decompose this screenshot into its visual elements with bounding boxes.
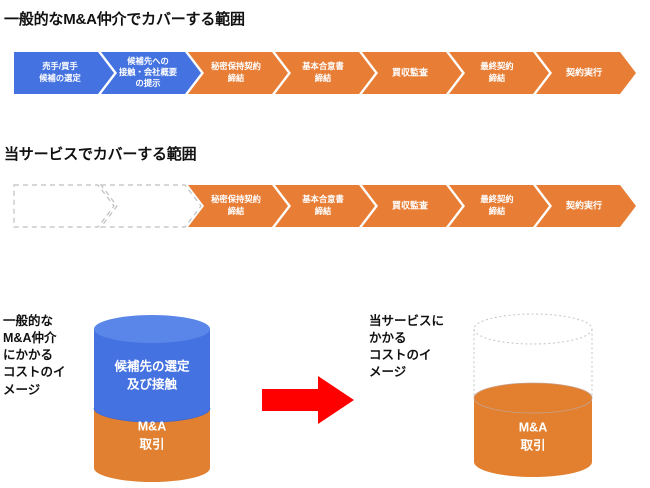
chevron-label: 候補の選定 [39,73,81,83]
chevron-label: 締結 [228,73,245,83]
chevron-label: の提示 [136,78,161,88]
cylinder-label: M&A [138,419,166,433]
right-arrow-icon [262,376,354,424]
chevron-label: 買収監査 [392,199,429,210]
chevron-label: 契約実行 [565,199,602,210]
chevron-label: 最終契約 [480,194,513,204]
chevron-label: 基本合意書 [301,61,344,71]
cylinder-top-ellipse-empty [474,314,592,344]
transition-arrow [262,374,354,426]
cost-caption-service: 当サービスに かかる コストのイ メージ [369,313,469,382]
chevron-label: 接触・会社概要 [119,67,178,77]
process-chevrons-service: 秘密保持契約 締結 基本合意書 締結 買収監査 最終契約 締結 契約実行 [14,185,636,227]
chevron-label: 締結 [489,206,506,216]
chevron-label: 契約実行 [565,66,602,77]
chevron-label: 締結 [315,206,332,216]
section-title-service: 当サービスでカバーする範囲 [4,143,196,164]
cylinder-label: 取引 [139,437,164,451]
cylinder-label: 及び接触 [127,376,178,391]
chevron-label: 買収監査 [392,66,429,77]
section-title-general: 一般的なM&A仲介でカバーする範囲 [4,8,245,29]
cost-caption-general: 一般的な M&A仲介 にかかる コストのイ メージ [3,313,89,399]
cylinder-label: 候補先の選定 [114,358,190,373]
chevron-label: 締結 [228,206,245,216]
chevron-label: 基本合意書 [301,194,344,204]
chevron-label: 秘密保持契約 [211,194,261,204]
chevron-step-2-empty[interactable] [101,185,201,227]
chevron-label: 売手/買手 [42,61,78,71]
chevron-label: 候補先への [127,56,169,66]
cylinder-top-ellipse [94,315,210,343]
chevron-label: 締結 [315,73,332,83]
chevron-label: 秘密保持契約 [211,61,261,71]
cylinder-label: M&A [519,420,547,434]
chevron-step-1-empty[interactable] [14,185,114,227]
cylinder-fill-ellipse [474,383,592,413]
chevron-label: 最終契約 [480,61,513,71]
cost-cylinder-general: 候補先の選定 及び接触 M&A 取引 [93,310,211,482]
cost-cylinder-service: M&A 取引 [472,310,594,482]
slide-canvas: 一般的なM&A仲介でカバーする範囲 売手/買手 候補の選定 候補先への 接触・会… [0,0,650,488]
cylinder-label: 取引 [520,438,545,452]
process-chevrons-general: 売手/買手 候補の選定 候補先への 接触・会社概要 の提示 秘密保持契約 締結 … [14,52,636,94]
chevron-label: 締結 [489,73,506,83]
